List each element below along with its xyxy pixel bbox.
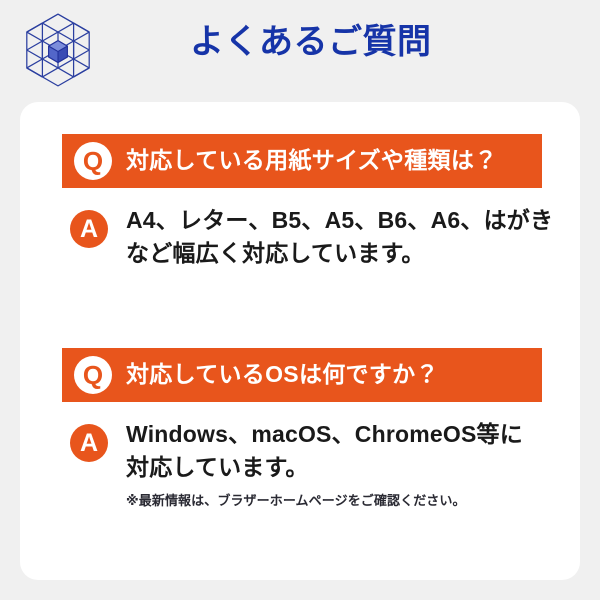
faq-item: Q 対応しているOSは何ですか？ A Windows、macOS、ChromeO… [62,348,542,511]
answer-line: など幅広く対応しています。 [126,237,542,270]
question-badge-icon: Q [74,356,112,394]
page-header: よくあるご質問 [0,0,600,102]
question-bar[interactable]: Q 対応している用紙サイズや種類は？ [62,134,542,188]
answer-badge-icon: A [70,210,108,248]
question-text: 対応しているOSは何ですか？ [126,362,439,387]
faq-card: Q 対応している用紙サイズや種類は？ A A4、レター、B5、A5、B6、A6、… [20,102,580,580]
hexagon-cube-logo-icon [18,10,98,90]
answer-badge-icon: A [70,424,108,462]
faq-page: よくあるご質問 Q 対応している用紙サイズや種類は？ A A4、レター、B5、A… [0,0,600,600]
answer-note: ※最新情報は、ブラザーホームページをご確認ください。 [126,492,542,510]
answer-line: Windows、macOS、ChromeOS等に [126,418,542,451]
faq-item: Q 対応している用紙サイズや種類は？ A A4、レター、B5、A5、B6、A6、… [62,134,542,269]
answer-block: A A4、レター、B5、A5、B6、A6、はがき など幅広く対応しています。 [62,204,542,269]
answer-text: Windows、macOS、ChromeOS等に 対応しています。 ※最新情報は… [126,418,542,511]
answer-line: 対応しています。 [126,451,542,484]
question-badge-icon: Q [74,142,112,180]
answer-line: A4、レター、B5、A5、B6、A6、はがき [126,204,542,237]
answer-block: A Windows、macOS、ChromeOS等に 対応しています。 ※最新情… [62,418,542,511]
page-title: よくあるご質問 [190,22,432,63]
answer-text: A4、レター、B5、A5、B6、A6、はがき など幅広く対応しています。 [126,204,542,269]
question-text: 対応している用紙サイズや種類は？ [126,148,497,173]
question-bar[interactable]: Q 対応しているOSは何ですか？ [62,348,542,402]
